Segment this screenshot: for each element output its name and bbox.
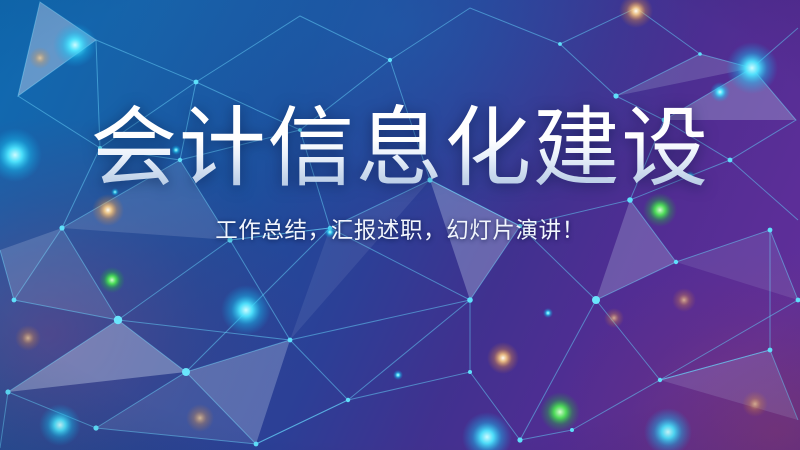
page-subtitle: 工作总结，汇报述职，幻灯片演讲！ xyxy=(215,213,585,245)
title-block: 会计信息化建设 工作总结，汇报述职，幻灯片演讲！ xyxy=(0,0,800,450)
presentation-cover-slide: 会计信息化建设 工作总结，汇报述职，幻灯片演讲！ xyxy=(0,0,800,450)
page-title: 会计信息化建设 xyxy=(90,104,710,193)
